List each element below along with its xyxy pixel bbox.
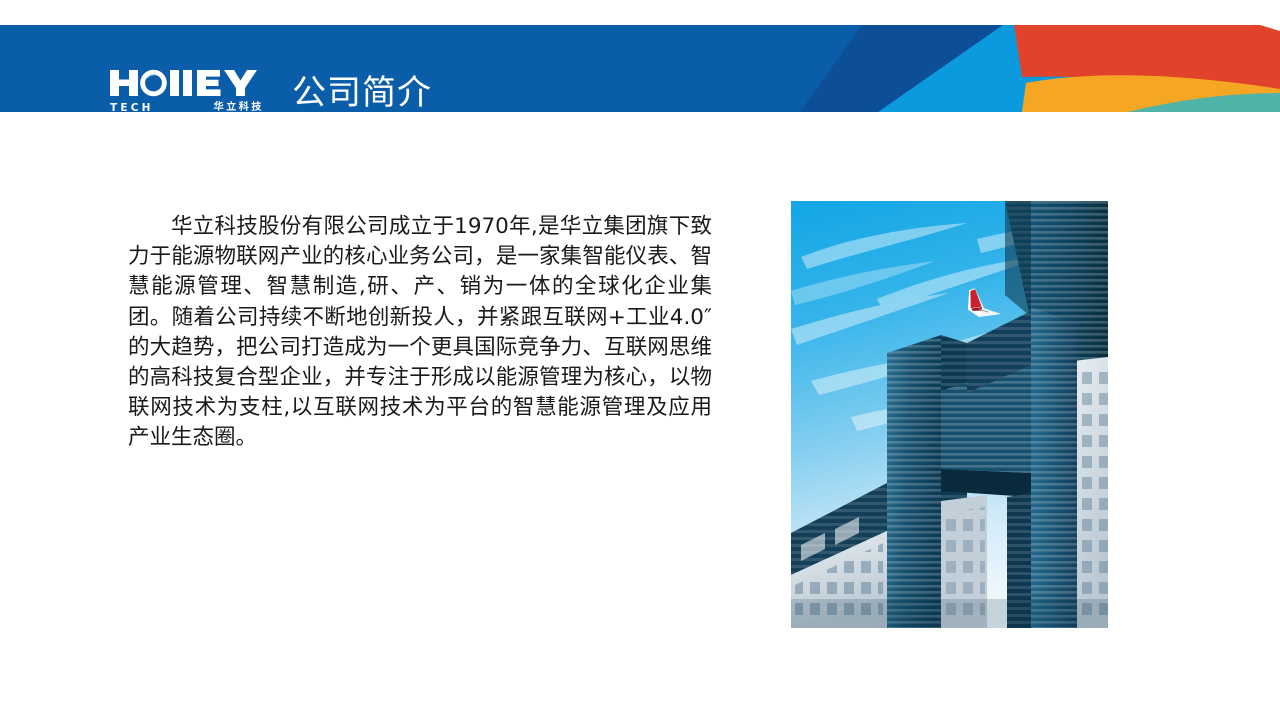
logo-subtitle-en: TECH [110,103,154,112]
photo-bottom-haze [791,599,1108,628]
logo-subtitle-row: TECH 华立科技 [110,101,262,112]
company-building-photo [791,201,1108,628]
tower-right-front [1031,307,1077,628]
logo-subtitle-cn: 华立科技 [214,103,264,112]
company-logo: TECH 华立科技 [110,69,262,112]
lowrise-right-white [1073,357,1108,628]
building-skyline-illustration [791,201,1108,628]
page-title: 公司简介 [292,71,432,112]
holley-wordmark-icon [110,69,262,99]
company-profile-paragraph: 华立科技股份有限公司成立于1970年,是华立集团旗下致力于能源物联网产业的核心业… [128,212,712,454]
slide-company-profile: TECH 华立科技 公司简介 华立科技股份有限公司成立于1970年,是华立集团旗… [0,0,1280,720]
header-banner: TECH 华立科技 公司简介 [0,25,1280,112]
